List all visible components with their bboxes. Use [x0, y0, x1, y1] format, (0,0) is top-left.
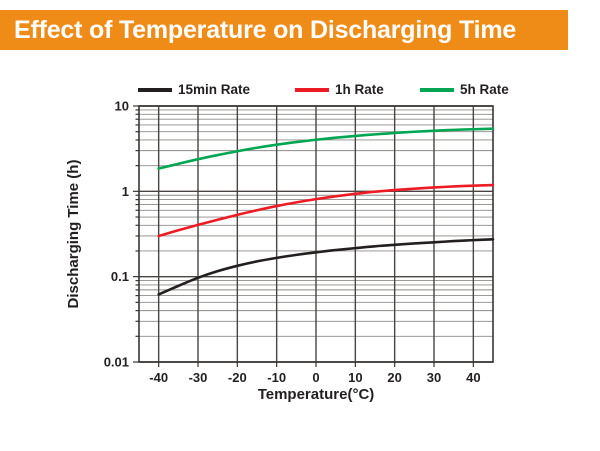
x-tick-label: -40	[149, 370, 168, 385]
x-tick-label: -30	[189, 370, 208, 385]
y-axis-title: Discharging Time (h)	[65, 160, 82, 309]
y-tick-label: 10	[115, 99, 129, 114]
x-tick-label: 20	[387, 370, 401, 385]
chart-container: 15min Rate 1h Rate 5h Rate -40-30-20-100…	[0, 50, 600, 451]
x-tick-label: -10	[267, 370, 286, 385]
title-bar: Effect of Temperature on Discharging Tim…	[0, 10, 568, 50]
x-tick-label: 0	[312, 370, 319, 385]
x-tick-label: 30	[427, 370, 441, 385]
x-tick-label: 40	[466, 370, 480, 385]
y-tick-label: 1	[122, 184, 129, 199]
axis-ticks	[133, 106, 473, 367]
y-tick-label: 0.01	[104, 355, 129, 370]
chart-plot: -40-30-20-10010203040 0.010.1110 Tempera…	[0, 50, 600, 451]
y-tick-labels: 0.010.1110	[104, 99, 129, 370]
x-tick-label: 10	[348, 370, 362, 385]
grid-major-vertical	[159, 106, 474, 362]
x-axis-title: Temperature(°C)	[258, 386, 375, 403]
x-tick-labels: -40-30-20-10010203040	[149, 370, 480, 385]
series-lines	[159, 129, 493, 295]
y-tick-label: 0.1	[111, 269, 129, 284]
x-tick-label: -20	[228, 370, 247, 385]
page-title: Effect of Temperature on Discharging Tim…	[0, 16, 516, 45]
